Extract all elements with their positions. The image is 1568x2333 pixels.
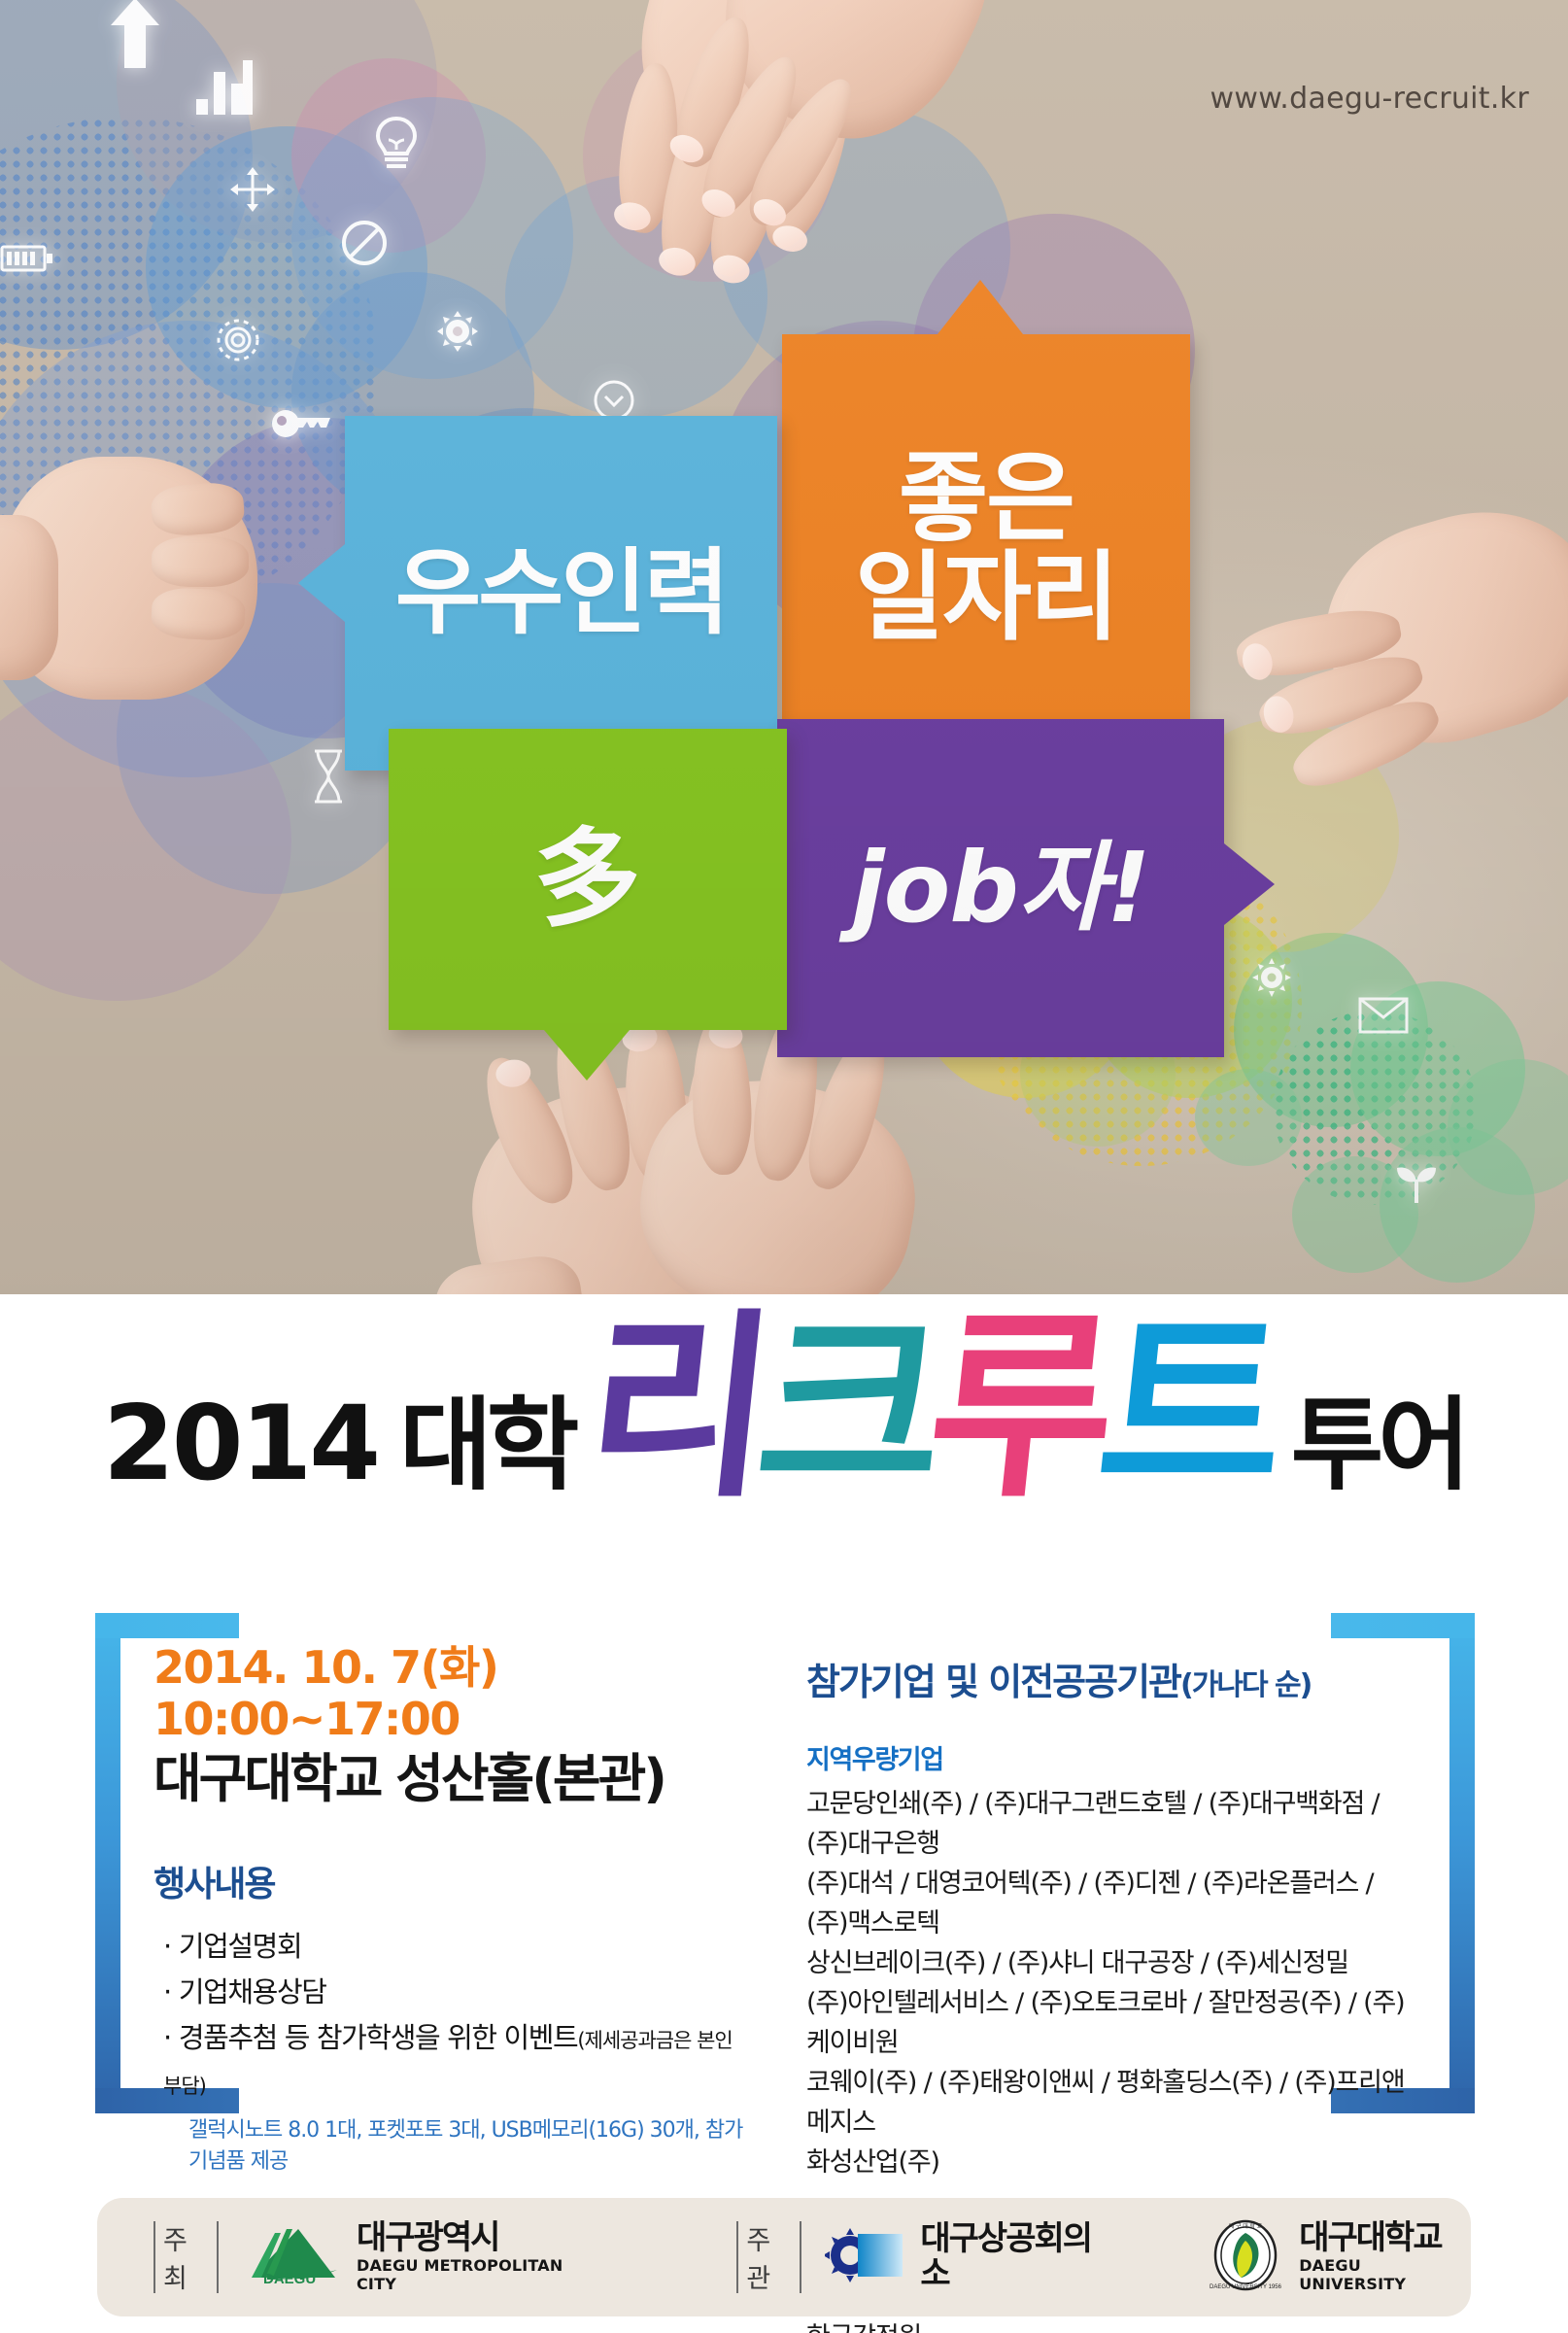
right-bracket-vertical — [1449, 1613, 1475, 2113]
daegu-city-name-ko: 대구광역시 — [357, 2221, 604, 2256]
title-tour: 투어 — [1272, 1394, 1465, 1501]
arrow-up-icon — [109, 0, 161, 75]
title-char-ri: 리 — [579, 1317, 768, 1501]
envelope-icon — [1358, 997, 1409, 1039]
battery-icon — [0, 243, 56, 279]
title-char-teu: 트 — [1091, 1317, 1280, 1501]
company-line: (주)아인텔레서비스 / (주)오토크로바 / 잘만정공(주) / (주)케이비… — [806, 1983, 1409, 2063]
sprout-icon — [1391, 1158, 1442, 1210]
company-line: 상신브레이크(주) / (주)샤니 대구공장 / (주)세신정밀 — [806, 1943, 1409, 1983]
hourglass-icon — [309, 748, 348, 809]
speech-bubble-excellent-talent: 우수인력 — [345, 416, 777, 771]
daegu-city-logo-icon: DAEGU — [246, 2223, 339, 2292]
website-url[interactable]: www.daegu-recruit.kr — [1210, 82, 1529, 116]
organizer-label: 주관 — [736, 2219, 801, 2295]
hero-banner: 좋은 일자리 우수인력 job자! 多 www.daegu-recruit.kr — [0, 0, 1568, 1294]
company-line: 코웨이(주) / (주)태왕이앤씨 / 평화홀딩스(주) / (주)프리앤메지스 — [806, 2063, 1409, 2143]
daegu-university-logo-icon: 대 구 대 학 교 DAEGU UNIVERSITY 1956 — [1210, 2219, 1281, 2296]
organizer-segment: 주관 대구상공회의소 — [736, 2219, 1116, 2295]
sponsor-footer: 주최 DAEGU 대구광역시 DAEGU METROPOLITAN CITY 주… — [97, 2198, 1471, 2316]
daegu-university-name-en: DAEGU UNIVERSITY — [1299, 2256, 1471, 2293]
left-bracket-top — [95, 1613, 239, 1638]
prize-note: 갤럭시노트 8.0 1대, 포켓포토 3대, USB메모리(16G) 30개, … — [188, 2112, 746, 2175]
daegu-university-name-ko: 대구대학교 — [1299, 2221, 1471, 2256]
speech-bubble-many: 多 — [389, 729, 787, 1030]
poster-root: 좋은 일자리 우수인력 job자! 多 www.daegu-recruit.kr… — [0, 0, 1568, 2333]
program-item: ·기업채용상담 — [153, 1970, 746, 2015]
company-line: 화성산업(주) — [806, 2143, 1409, 2182]
bubble-tail — [1224, 843, 1275, 925]
bubble-tail — [937, 280, 1023, 334]
event-datetime: 2014. 10. 7(화) 10:00~17:00 — [153, 1642, 746, 1746]
title-char-ru: 루 — [921, 1317, 1110, 1501]
dcci-logo-icon — [825, 2224, 906, 2291]
speech-bubble-jobja-text: job자! — [851, 839, 1149, 938]
move-arrows-icon — [228, 165, 277, 219]
bar-chart-icon — [194, 58, 255, 121]
local-companies-heading: 지역우량기업 — [806, 1738, 1409, 1776]
local-companies-list: 고문당인쇄(주) / (주)대구그랜드호텔 / (주)대구백화점 / (주)대구… — [806, 1784, 1409, 2182]
bubble-tail — [298, 544, 345, 622]
program-list: ·기업설명회 ·기업채용상담 ·경품추첨 등 참가학생을 위한 이벤트(제세공과… — [153, 1924, 746, 2175]
svg-text:대 구 대 학 교: 대 구 대 학 교 — [1229, 2222, 1263, 2230]
participants-heading: 참가기업 및 이전공공기관(가나다 순) — [806, 1652, 1409, 1705]
lightbulb-icon — [371, 115, 422, 180]
svg-text:DAEGU: DAEGU — [263, 2271, 316, 2287]
host-label: 주최 — [153, 2219, 219, 2295]
speech-bubble-many-text: 多 — [534, 825, 641, 934]
gear-icon — [435, 309, 480, 359]
dcci-name-ko: 대구상공회의소 — [920, 2222, 1116, 2291]
participants-heading-suffix: (가나다 순) — [1180, 1668, 1311, 1702]
title-daehak: 대학 — [378, 1394, 589, 1501]
svg-text:DAEGU UNIVERSITY 1956: DAEGU UNIVERSITY 1956 — [1210, 2284, 1281, 2290]
public-institution-item: 한국감정원 — [806, 2316, 1409, 2333]
speech-bubble-good-jobs-text: 좋은 일자리 — [855, 449, 1117, 647]
hand-left-fist — [0, 457, 282, 738]
prohibited-icon — [340, 219, 389, 272]
title-char-keu: 크 — [750, 1317, 939, 1501]
page-title: 2014 대학 리 크 루 트 투어 — [0, 1307, 1568, 1501]
university-segment: 대 구 대 학 교 DAEGU UNIVERSITY 1956 대구대학교 DA… — [1210, 2219, 1471, 2296]
program-heading: 행사내용 — [153, 1856, 746, 1906]
speech-bubble-excellent-talent-text: 우수인력 — [395, 546, 727, 641]
bullet-dot: · — [163, 1975, 171, 2008]
bullet-dot: · — [163, 2021, 171, 2054]
title-year: 2014 — [103, 1392, 378, 1501]
event-venue: 대구대학교 성산홀(본관) — [153, 1750, 746, 1807]
key-icon — [270, 406, 334, 450]
cog-icon — [209, 311, 267, 374]
company-line: 고문당인쇄(주) / (주)대구그랜드호텔 / (주)대구백화점 / (주)대구… — [806, 1784, 1409, 1864]
daegu-city-name-en: DAEGU METROPOLITAN CITY — [357, 2256, 604, 2293]
left-bracket-vertical — [95, 1613, 120, 2113]
speech-bubble-jobja: job자! — [777, 719, 1224, 1057]
company-line: (주)대석 / 대영코어텍(주) / (주)디젠 / (주)라온플러스 / (주… — [806, 1864, 1409, 1943]
program-item: ·기업설명회 — [153, 1924, 746, 1970]
gear-icon — [1251, 957, 1292, 1003]
right-bracket-top — [1331, 1613, 1475, 1638]
speech-bubble-good-jobs: 좋은 일자리 — [782, 334, 1190, 762]
program-item: ·경품추첨 등 참가학생을 위한 이벤트(제세공과금은 본인 부담) — [153, 2015, 746, 2107]
host-segment: 주최 DAEGU 대구광역시 DAEGU METROPOLITAN CITY — [153, 2219, 604, 2295]
bullet-dot: · — [163, 1930, 171, 1963]
bokeh-circle — [1195, 1069, 1302, 1166]
bubble-tail — [544, 1030, 630, 1081]
